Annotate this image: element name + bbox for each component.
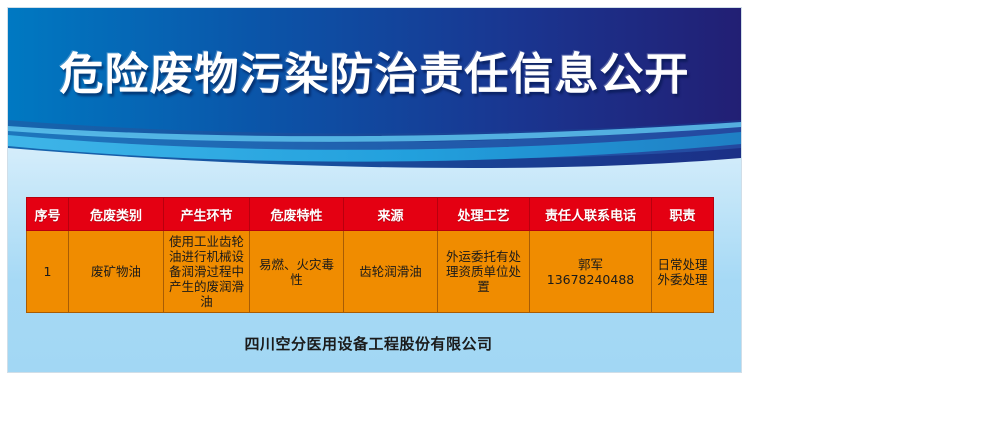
- company-name: 四川空分医用设备工程股份有限公司: [8, 333, 741, 354]
- hazardous-waste-table: 序号 危废类别 产生环节 危废特性 来源 处理工艺 责任人联系电话 职责 1 废…: [26, 197, 714, 313]
- duty-line-2: 外委处理: [656, 272, 709, 287]
- column-header-index: 序号: [27, 198, 69, 231]
- poster-banner: 危险废物污染防治责任信息公开: [8, 8, 741, 178]
- column-header-stage: 产生环节: [164, 198, 250, 231]
- cell-category: 废矿物油: [69, 231, 164, 313]
- cell-duty: 日常处理 外委处理: [652, 231, 714, 313]
- contact-person-name: 郭军: [534, 257, 647, 272]
- cell-source: 齿轮润滑油: [344, 231, 438, 313]
- cell-hazard: 易燃、火灾毒性: [250, 231, 344, 313]
- information-poster: 危险废物污染防治责任信息公开 序号 危废类别 产生环节 危废特性: [8, 8, 741, 372]
- table-header-row: 序号 危废类别 产生环节 危废特性 来源 处理工艺 责任人联系电话 职责: [27, 198, 714, 231]
- duty-line-1: 日常处理: [656, 257, 709, 272]
- hazardous-waste-table-container: 序号 危废类别 产生环节 危废特性 来源 处理工艺 责任人联系电话 职责 1 废…: [26, 197, 713, 313]
- column-header-category: 危废类别: [69, 198, 164, 231]
- page-title: 危险废物污染防治责任信息公开: [8, 48, 741, 102]
- cell-index: 1: [27, 231, 69, 313]
- column-header-duty: 职责: [652, 198, 714, 231]
- column-header-process: 处理工艺: [438, 198, 530, 231]
- cell-contact: 郭军 13678240488: [530, 231, 652, 313]
- column-header-contact: 责任人联系电话: [530, 198, 652, 231]
- column-header-hazard: 危废特性: [250, 198, 344, 231]
- column-header-source: 来源: [344, 198, 438, 231]
- cell-process: 外运委托有处理资质单位处置: [438, 231, 530, 313]
- contact-person-phone: 13678240488: [534, 272, 647, 287]
- table-row: 1 废矿物油 使用工业齿轮油进行机械设备润滑过程中产生的废润滑油 易燃、火灾毒性…: [27, 231, 714, 313]
- cell-stage: 使用工业齿轮油进行机械设备润滑过程中产生的废润滑油: [164, 231, 250, 313]
